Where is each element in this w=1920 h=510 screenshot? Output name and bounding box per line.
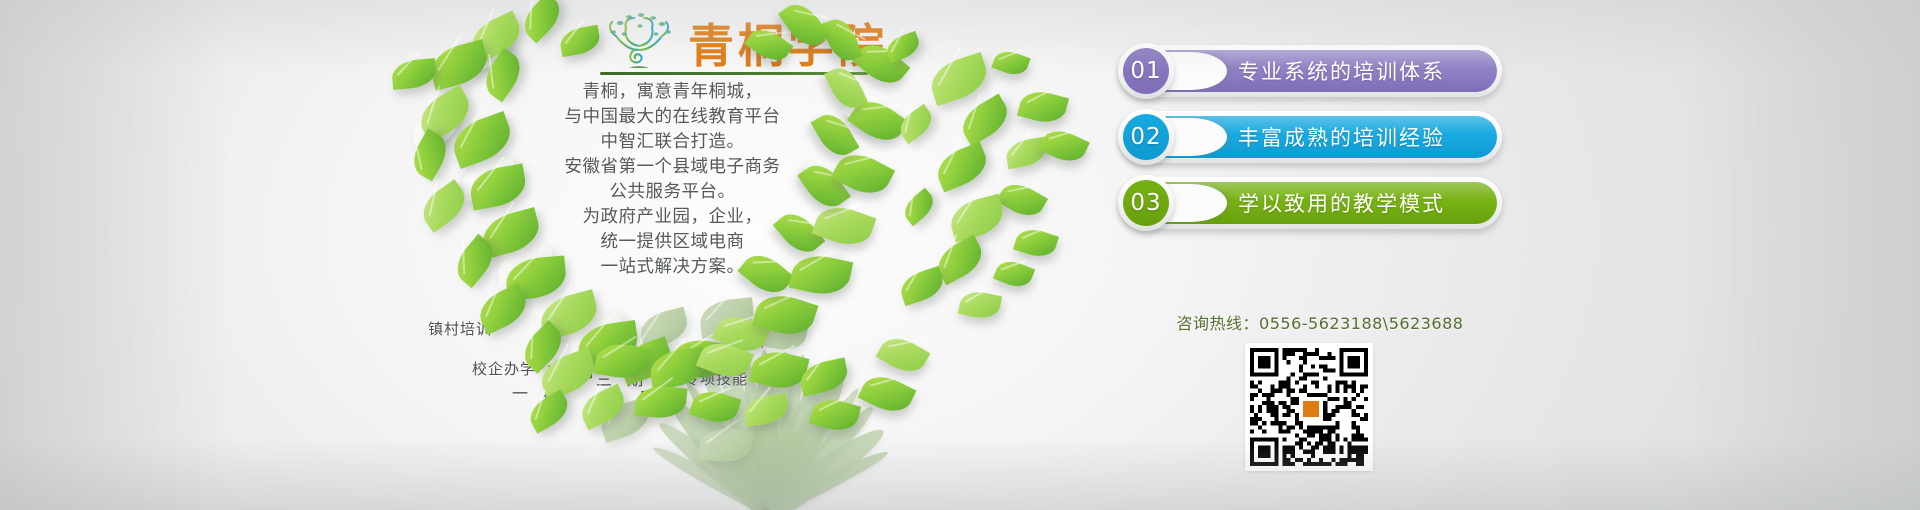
badge-label: 丰富成熟的培训经验 — [1238, 111, 1488, 163]
feature-badge-list: 01专业系统的培训体系02丰富成熟的培训经验03学以致用的教学模式 — [1120, 45, 1510, 243]
leaf-shape — [993, 256, 1035, 292]
badge-label: 专业系统的培训体系 — [1238, 45, 1488, 97]
badge-number: 01 — [1123, 48, 1169, 94]
leaf-shape — [932, 141, 993, 192]
feature-badge[interactable]: 02丰富成熟的培训经验 — [1120, 111, 1502, 163]
leaf-shape — [996, 177, 1048, 223]
leaf-shape — [1017, 87, 1069, 128]
leaf-shape — [897, 266, 947, 306]
badge-number: 03 — [1123, 180, 1169, 226]
leaf-shape — [991, 47, 1030, 79]
leaf-shape — [894, 104, 937, 144]
badge-number-ring: 03 — [1118, 175, 1174, 231]
qr-code[interactable] — [1245, 343, 1373, 471]
tree-icon — [596, 10, 682, 72]
leaf-shape — [391, 58, 437, 90]
feature-badge[interactable]: 03学以致用的教学模式 — [1120, 177, 1502, 229]
badge-number: 02 — [1123, 114, 1169, 160]
leaf-shape — [926, 52, 993, 106]
leaf-shape — [899, 188, 939, 227]
leaf-shape — [1038, 124, 1090, 168]
description-line: 青桐，寓意青年桐城， — [460, 80, 885, 105]
hotline-text: 咨询热线：0556-5623188\5623688 — [1120, 310, 1520, 334]
feature-badge[interactable]: 01专业系统的培训体系 — [1120, 45, 1502, 97]
leaf-shape — [1013, 224, 1059, 261]
badge-label: 学以致用的教学模式 — [1238, 177, 1488, 229]
badge-number-ring: 01 — [1118, 43, 1174, 99]
leaf-shape — [517, 0, 568, 43]
leaf-shape — [955, 94, 1014, 147]
badge-number-ring: 02 — [1118, 109, 1174, 165]
banner-stage: 青桐学院 青桐，寓意青年桐城，与中国最大的在线教育平台中智汇联合打造。安徽省第一… — [0, 0, 1920, 510]
leaf-shape — [958, 288, 1003, 322]
